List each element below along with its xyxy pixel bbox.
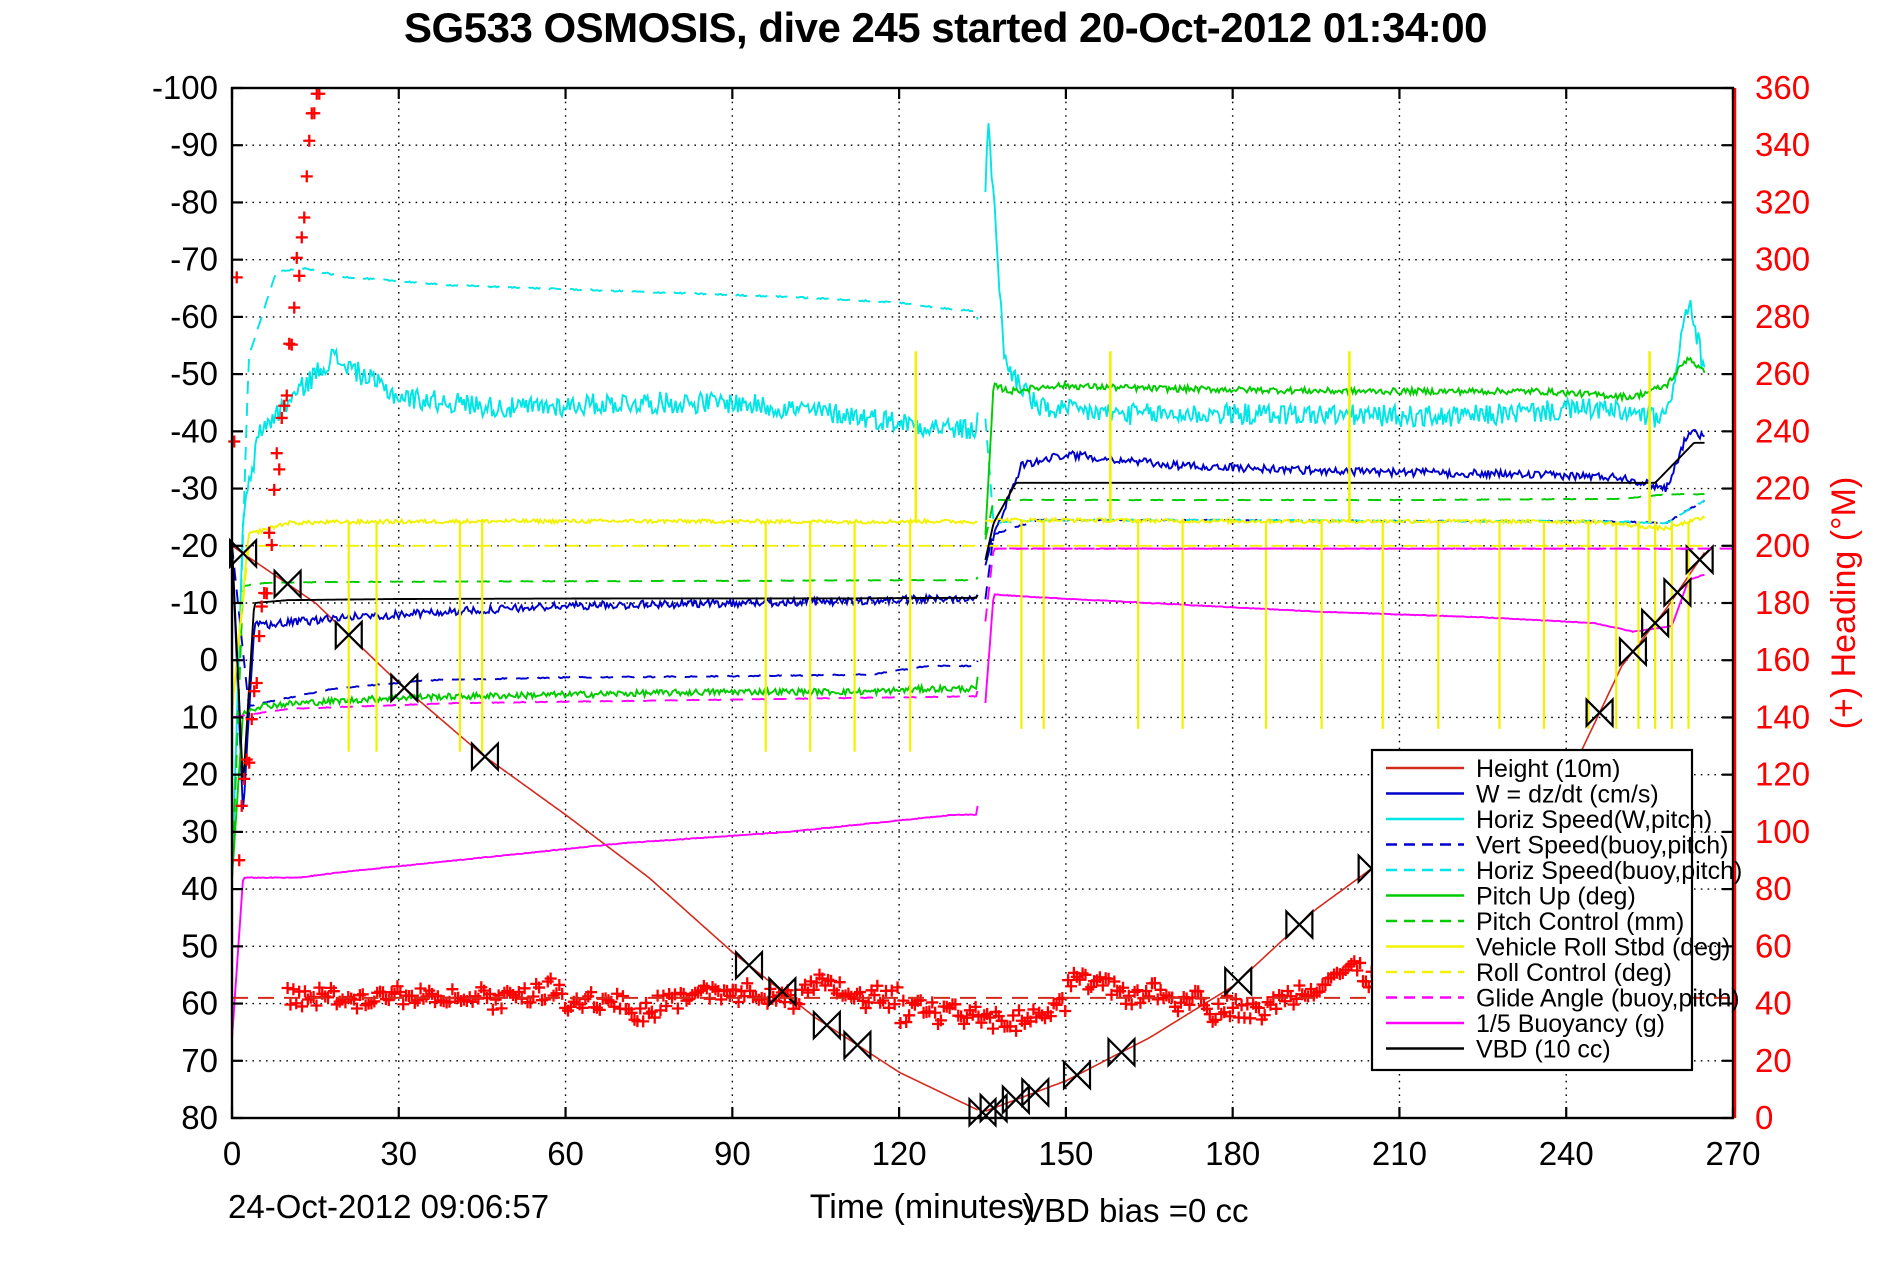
legend-item-label[interactable]: 1/5 Buoyancy (g) bbox=[1476, 1010, 1665, 1038]
x-axis-tick-label: 240 bbox=[1539, 1135, 1594, 1172]
y2-axis-tick-label: 260 bbox=[1755, 355, 1810, 392]
y2-axis-tick-label: 40 bbox=[1755, 985, 1792, 1022]
y-axis-tick-label: -30 bbox=[170, 470, 218, 507]
x-axis-tick-label: 150 bbox=[1038, 1135, 1093, 1172]
y-axis-tick-label: -70 bbox=[170, 241, 218, 278]
y-axis-tick-label: -80 bbox=[170, 183, 218, 220]
y-axis-tick-label: -100 bbox=[152, 69, 218, 106]
y2-axis-tick-label: 120 bbox=[1755, 756, 1810, 793]
y2-axis-tick-label: 300 bbox=[1755, 241, 1810, 278]
y2-axis-tick-label: 60 bbox=[1755, 927, 1792, 964]
y2-axis-tick-label: 140 bbox=[1755, 698, 1810, 735]
y2-axis-tick-label: 320 bbox=[1755, 183, 1810, 220]
y2-axis-tick-label: 0 bbox=[1755, 1099, 1773, 1136]
y-axis-tick-label: 70 bbox=[181, 1042, 218, 1079]
legend-item-label[interactable]: Pitch Up (deg) bbox=[1476, 883, 1636, 911]
x-axis-label: Time (minutes) bbox=[810, 1188, 1035, 1226]
footer-vbd-bias: VBD bias =0 cc bbox=[1022, 1192, 1249, 1230]
y-axis-tick-label: -10 bbox=[170, 584, 218, 621]
y2-axis-tick-label: 100 bbox=[1755, 813, 1810, 850]
y2-axis-tick-label: 180 bbox=[1755, 584, 1810, 621]
y2-axis-tick-label: 280 bbox=[1755, 298, 1810, 335]
y-axis-tick-label: -50 bbox=[170, 355, 218, 392]
y2-axis-tick-label: 200 bbox=[1755, 527, 1810, 564]
x-axis-tick-label: 0 bbox=[223, 1135, 241, 1172]
y2-axis-tick-label: 240 bbox=[1755, 412, 1810, 449]
x-axis-tick-label: 90 bbox=[714, 1135, 751, 1172]
y-axis-tick-label: -20 bbox=[170, 527, 218, 564]
y-axis-tick-label: 60 bbox=[181, 985, 218, 1022]
plot-svg: 80706050403020100-10-20-30-40-50-60-70-8… bbox=[0, 0, 1891, 1262]
y-axis-tick-label: 50 bbox=[181, 927, 218, 964]
legend-item-label[interactable]: VBD (10 cc) bbox=[1476, 1036, 1611, 1064]
y2-axis-tick-label: 20 bbox=[1755, 1042, 1792, 1079]
legend-item-label[interactable]: Glide Angle (buoy,pitch) bbox=[1476, 985, 1740, 1013]
y-axis-tick-label: 40 bbox=[181, 870, 218, 907]
legend-item-label[interactable]: Horiz Speed(W,pitch) bbox=[1476, 806, 1712, 834]
x-axis-tick-label: 60 bbox=[547, 1135, 584, 1172]
y2-axis-tick-label: 220 bbox=[1755, 470, 1810, 507]
y-axis-tick-label: -40 bbox=[170, 412, 218, 449]
y2-axis-label: (+) Heading (°M) bbox=[1825, 477, 1863, 730]
legend-item-label[interactable]: Vehicle Roll Stbd (deg) bbox=[1476, 934, 1730, 962]
legend-item-label[interactable]: Vert Speed(buoy,pitch) bbox=[1476, 832, 1728, 860]
legend-item-label[interactable]: W = dz/dt (cm/s) bbox=[1476, 781, 1659, 809]
y2-axis-tick-label: 160 bbox=[1755, 641, 1810, 678]
y2-axis-tick-label: 360 bbox=[1755, 69, 1810, 106]
legend-item-label[interactable]: Roll Control (deg) bbox=[1476, 959, 1672, 987]
y-axis-tick-label: 30 bbox=[181, 813, 218, 850]
x-axis-tick-label: 120 bbox=[872, 1135, 927, 1172]
x-axis-tick-label: 210 bbox=[1372, 1135, 1427, 1172]
legend-item-label[interactable]: Horiz Speed(buoy,pitch) bbox=[1476, 857, 1742, 885]
legend-item-label[interactable]: Height (10m) bbox=[1476, 755, 1621, 783]
x-axis-tick-label: 270 bbox=[1705, 1135, 1760, 1172]
y-axis-tick-label: 80 bbox=[181, 1099, 218, 1136]
y-axis-tick-label: 0 bbox=[200, 641, 218, 678]
y2-axis-tick-label: 80 bbox=[1755, 870, 1792, 907]
x-axis-tick-label: 180 bbox=[1205, 1135, 1260, 1172]
y2-axis-tick-label: 340 bbox=[1755, 126, 1810, 163]
y-axis-tick-label: -90 bbox=[170, 126, 218, 163]
footer-timestamp: 24-Oct-2012 09:06:57 bbox=[228, 1188, 549, 1226]
legend-item-label[interactable]: Pitch Control (mm) bbox=[1476, 908, 1684, 936]
y-axis-tick-label: 20 bbox=[181, 756, 218, 793]
x-axis-tick-label: 30 bbox=[380, 1135, 417, 1172]
y-axis-tick-label: -60 bbox=[170, 298, 218, 335]
y-axis-tick-label: 10 bbox=[181, 698, 218, 735]
figure-canvas: SG533 OSMOSIS, dive 245 started 20-Oct-2… bbox=[0, 0, 1891, 1262]
